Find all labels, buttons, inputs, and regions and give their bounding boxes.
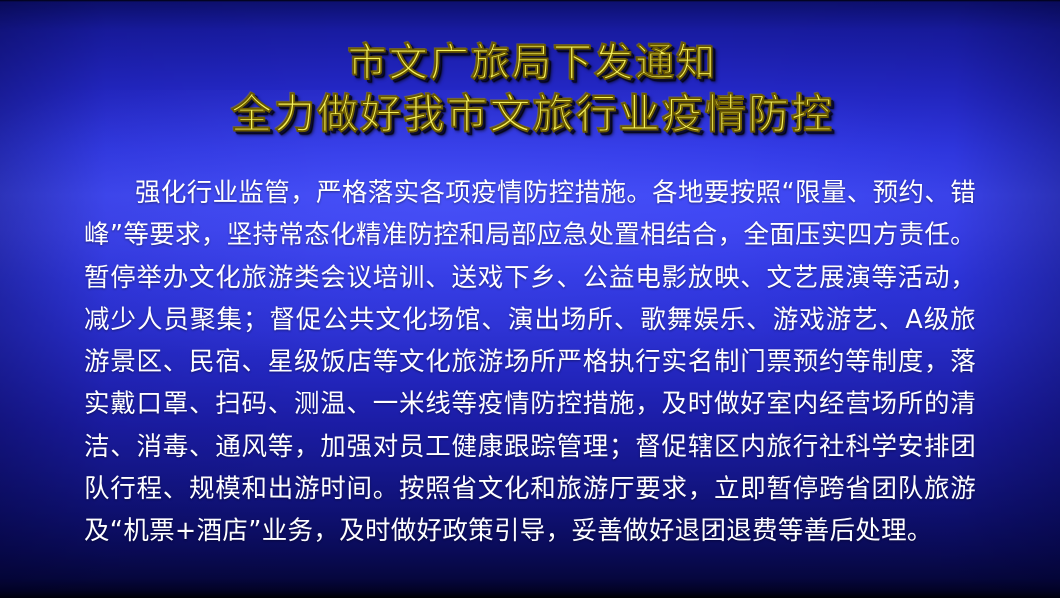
body-paragraph: 强化行业监管，严格落实各项疫情防控措施。各地要按照“限量、预约、错峰”等要求，坚… bbox=[84, 172, 976, 553]
broadcast-slide: 市文广旅局下发通知 全力做好我市文旅行业疫情防控 强化行业监管，严格落实各项疫情… bbox=[0, 0, 1060, 598]
headline-line-1: 市文广旅局下发通知 bbox=[0, 38, 1060, 88]
headline-block: 市文广旅局下发通知 全力做好我市文旅行业疫情防控 bbox=[0, 38, 1060, 141]
slide-content: 市文广旅局下发通知 全力做好我市文旅行业疫情防控 强化行业监管，严格落实各项疫情… bbox=[0, 0, 1060, 598]
body-copy-block: 强化行业监管，严格落实各项疫情防控措施。各地要按照“限量、预约、错峰”等要求，坚… bbox=[84, 172, 976, 553]
headline-line-2: 全力做好我市文旅行业疫情防控 bbox=[0, 88, 1060, 141]
